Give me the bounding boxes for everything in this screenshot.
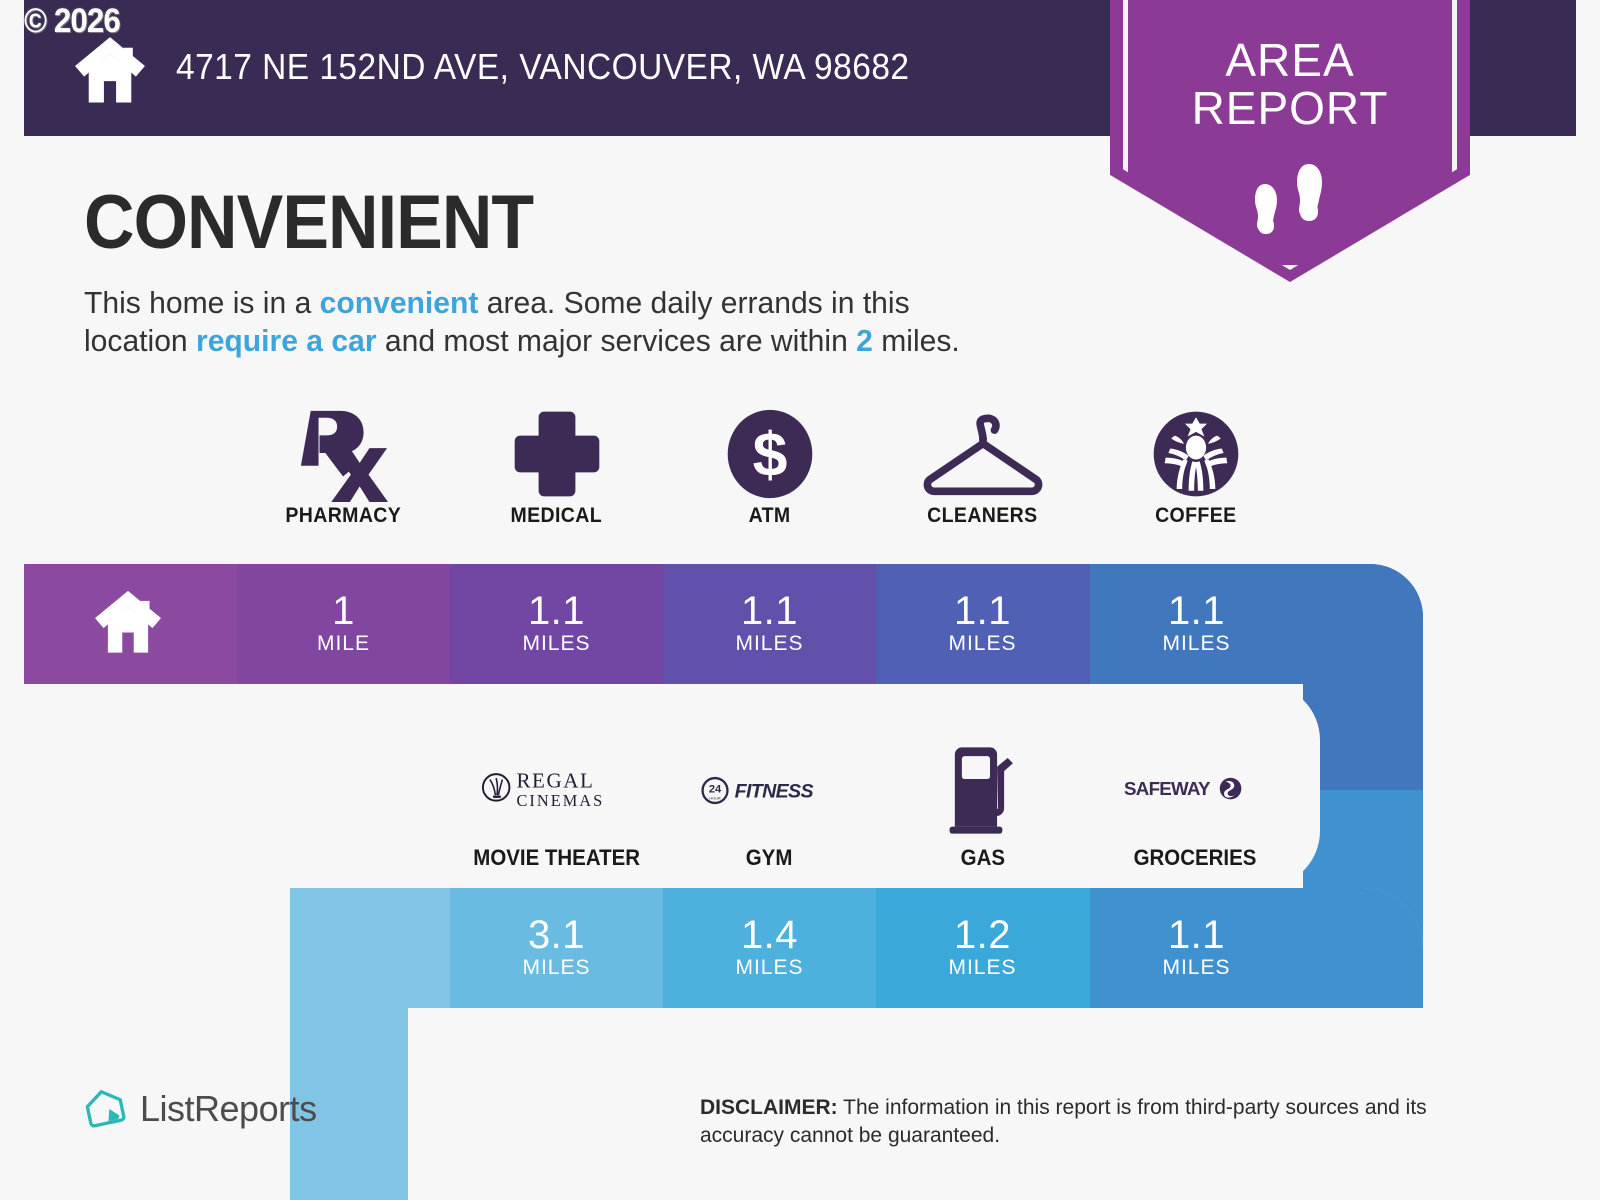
distance-unit: MILES (876, 956, 1089, 980)
house-icon (72, 34, 148, 104)
distance-unit: MILE (237, 632, 450, 656)
distance-unit: MILES (1090, 956, 1303, 980)
svg-text:REGAL: REGAL (516, 768, 594, 792)
page-title: CONVENIENT (84, 184, 967, 262)
svg-text:SAFEWAY: SAFEWAY (1124, 778, 1211, 799)
service-label: ATM (749, 504, 791, 528)
desc-highlight-convenient: convenient (320, 285, 479, 320)
badge-title-line1: AREA (1110, 36, 1470, 84)
distance-cell-atm: 1.1 MILES (663, 590, 876, 656)
headline-block: CONVENIENT This home is in a convenient … (84, 184, 1044, 360)
distance-cell-coffee: 1.1 MILES (1090, 590, 1303, 656)
listreports-tag-icon (84, 1088, 126, 1130)
distance-cell-medical: 1.1 MILES (450, 590, 663, 656)
service-pharmacy: PHARMACY (237, 404, 450, 556)
distance-value: 1.1 (876, 590, 1089, 632)
distance-value: 1.4 (663, 914, 876, 956)
desc-part-4: miles. (873, 323, 960, 358)
distance-cell-groceries: 1.1 MILES (1090, 914, 1303, 980)
service-label: GROCERIES (1134, 845, 1257, 871)
svg-text:24: 24 (708, 783, 721, 795)
badge-title-line2: REPORT (1110, 84, 1470, 132)
svg-text:$: $ (752, 420, 787, 490)
distance-unit: MILES (450, 632, 663, 656)
distance-value: 1.1 (450, 590, 663, 632)
distance-value: 1 (237, 590, 450, 632)
service-gym: 24 HOUR FITNESS GYM (663, 735, 876, 885)
starbucks-icon (1150, 404, 1242, 504)
copyright-watermark: © 2026 (24, 2, 120, 41)
service-label: MOVIE THEATER (473, 845, 640, 871)
distance-cell-movie-theater: 3.1 MILES (450, 914, 663, 980)
distance-cell-gas: 1.2 MILES (876, 914, 1089, 980)
service-gas: GAS (876, 735, 1089, 885)
distance-unit: MILES (663, 956, 876, 980)
home-marker-icon (92, 588, 164, 654)
badge-title: AREA REPORT (1110, 36, 1470, 132)
regal-cinemas-icon: REGAL CINEMAS (479, 735, 635, 845)
service-label: GYM (746, 845, 793, 871)
service-groceries: SAFEWAY GROCERIES (1089, 735, 1302, 885)
service-label: GAS (960, 845, 1004, 871)
distance-unit: MILES (876, 632, 1089, 656)
service-movie-theater: REGAL CINEMAS MOVIE THEATER (450, 735, 663, 885)
distance-cell-pharmacy: 1 MILE (237, 590, 450, 656)
service-label: PHARMACY (286, 504, 402, 528)
medical-cross-icon (511, 404, 603, 504)
area-description: This home is in a convenient area. Some … (84, 284, 1015, 360)
hanger-icon (916, 404, 1050, 504)
distance-value: 1.1 (663, 590, 876, 632)
listreports-logo[interactable]: ListReports (84, 1088, 317, 1130)
service-atm: $ ATM (663, 404, 876, 556)
distance-cell-gym: 1.4 MILES (663, 914, 876, 980)
safeway-icon: SAFEWAY (1124, 735, 1268, 845)
service-coffee: COFFEE (1089, 404, 1302, 556)
distance-cell-cleaners: 1.1 MILES (876, 590, 1089, 656)
24-fitness-icon: 24 HOUR FITNESS (698, 735, 842, 845)
service-label: CLEANERS (927, 504, 1037, 528)
distance-value: 1.1 (1090, 914, 1303, 956)
svg-text:CINEMAS: CINEMAS (516, 791, 604, 810)
svg-text:FITNESS: FITNESS (734, 780, 813, 802)
desc-part-1: This home is in a (84, 285, 320, 320)
rx-icon (297, 404, 391, 504)
service-icon-row-top: PHARMACY MEDICAL $ ATM CLEANERS (237, 404, 1303, 556)
service-cleaners: CLEANERS (876, 404, 1089, 556)
distance-unit: MILES (450, 956, 663, 980)
area-report-badge: AREA REPORT (1110, 0, 1470, 282)
desc-highlight-miles: 2 (856, 323, 873, 358)
desc-highlight-require-a-car: require a car (196, 323, 377, 358)
desc-part-3: and most major services are within (377, 323, 857, 358)
distance-unit: MILES (1090, 632, 1303, 656)
disclaimer: DISCLAIMER: The information in this repo… (700, 1094, 1490, 1150)
distance-value: 1.1 (1090, 590, 1303, 632)
service-label: COFFEE (1155, 504, 1236, 528)
distance-value: 1.2 (876, 914, 1089, 956)
service-medical: MEDICAL (450, 404, 663, 556)
footprints-icon (1247, 158, 1333, 242)
listreports-logo-text: ListReports (140, 1088, 317, 1130)
distance-value: 3.1 (450, 914, 663, 956)
property-address: 4717 NE 152ND AVE, VANCOUVER, WA 98682 (176, 46, 909, 88)
gas-pump-icon (939, 735, 1027, 845)
service-label: MEDICAL (511, 504, 603, 528)
atm-dollar-icon: $ (724, 404, 816, 504)
disclaimer-label: DISCLAIMER: (700, 1096, 838, 1119)
svg-text:HOUR: HOUR (709, 795, 721, 800)
distance-unit: MILES (663, 632, 876, 656)
service-icon-row-bottom: REGAL CINEMAS MOVIE THEATER 24 HOUR FITN… (450, 735, 1303, 885)
